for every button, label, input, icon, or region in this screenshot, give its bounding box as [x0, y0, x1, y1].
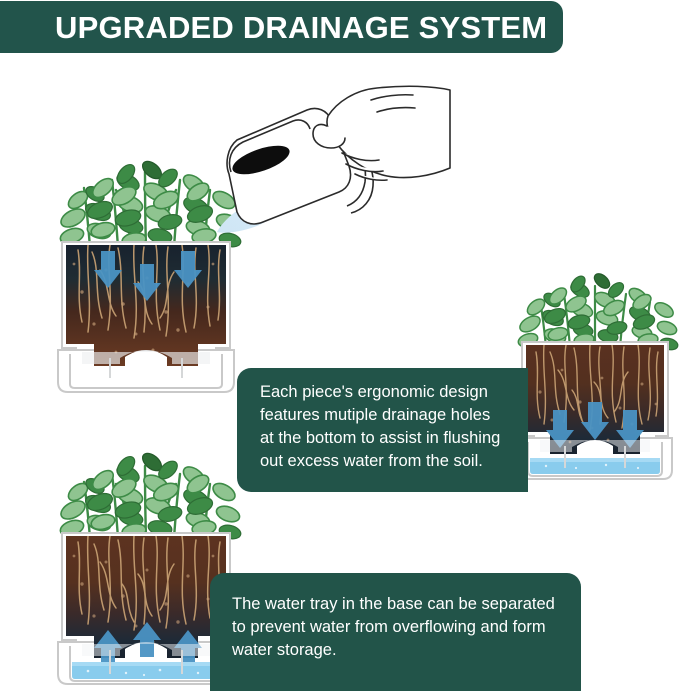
callout-water-tray-text: The water tray in the base can be separa… — [232, 593, 567, 662]
hand-holding-watering-can — [215, 82, 450, 272]
page-title: UPGRADED DRAINAGE SYSTEM — [55, 12, 547, 43]
callout-drainage-holes-text: Each piece's ergonomic design features m… — [260, 381, 514, 473]
plant-foliage — [58, 450, 242, 541]
page-title-banner: UPGRADED DRAINAGE SYSTEM — [0, 1, 563, 53]
planter-cross-section-draining — [510, 272, 679, 504]
callout-water-tray: The water tray in the base can be separa… — [210, 573, 581, 691]
callout-drainage-holes: Each piece's ergonomic design features m… — [237, 368, 528, 492]
plant-foliage — [517, 271, 679, 352]
infographic-canvas: UPGRADED DRAINAGE SYSTEM — [0, 0, 679, 691]
